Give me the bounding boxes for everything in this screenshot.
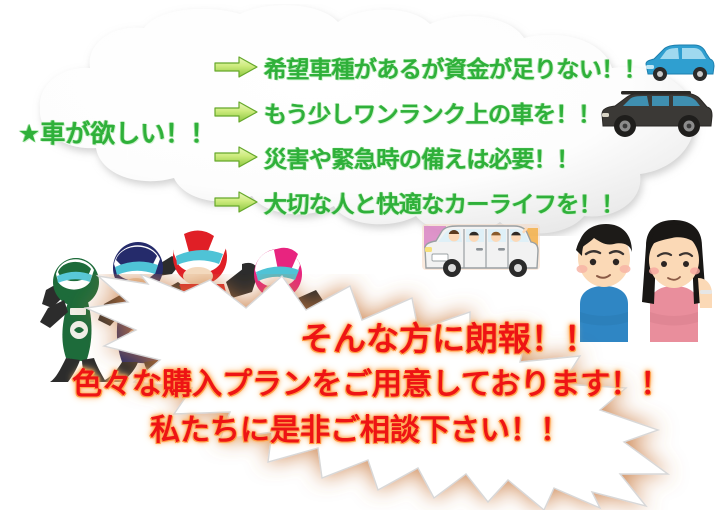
right-arrow-icon [214, 191, 258, 213]
announcement-line-1: そんな方に朗報！！ [0, 316, 721, 362]
bullet-row-1: 希望車種があるが資金が足りない！！ [214, 44, 644, 89]
right-arrow-icon [214, 56, 258, 78]
promo-banner: ★車が欲しい！！ 希望車種があるが資金が足りない！！ もう少しワンランク上の車を… [0, 0, 721, 514]
right-arrow-icon [214, 146, 258, 168]
headline-want-a-car: ★車が欲しい！！ [18, 112, 233, 152]
bullet-list: 希望車種があるが資金が足りない！！ もう少しワンランク上の車を！！ 災害や緊急時… [214, 44, 644, 224]
bullet-text: 災害や緊急時の備えは必要！！ [264, 140, 579, 174]
bullet-row-3: 災害や緊急時の備えは必要！！ [214, 134, 644, 179]
right-arrow-icon [214, 101, 258, 123]
blue-compact-car-illustration [640, 40, 716, 86]
announcement-line-3: 私たちに是非ご相談下さい！！ [0, 408, 721, 454]
bullet-text: もう少しワンランク上の車を！！ [264, 95, 601, 129]
announcement-block: そんな方に朗報！！ 色々な購入プランをご用意しております！！ 私たちに是非ご相談… [0, 316, 721, 454]
bullet-text: 希望車種があるが資金が足りない！！ [264, 50, 647, 84]
dark-suv-illustration [597, 86, 715, 142]
announcement-line-2: 色々な購入プランをご用意しております！！ [0, 362, 721, 408]
bullet-row-2: もう少しワンランク上の車を！！ [214, 89, 644, 134]
